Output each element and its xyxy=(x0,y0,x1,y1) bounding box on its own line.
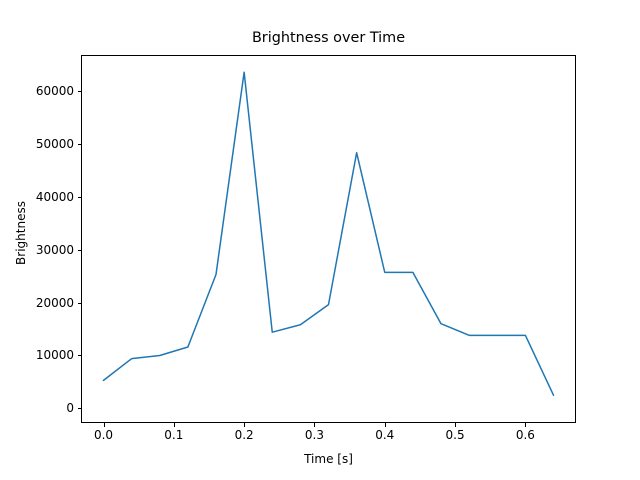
y-tick-mark xyxy=(78,250,82,251)
x-tick-label: 0.1 xyxy=(144,429,204,441)
x-tick-mark xyxy=(385,423,386,427)
x-tick-mark xyxy=(314,423,315,427)
x-tick-label: 0.2 xyxy=(214,429,274,441)
x-tick-label: 0.0 xyxy=(74,429,134,441)
x-axis-label: Time [s] xyxy=(81,452,576,466)
x-tick-mark xyxy=(244,423,245,427)
y-tick-label: 0 xyxy=(0,402,74,414)
y-tick-mark xyxy=(78,303,82,304)
x-tick-mark xyxy=(174,423,175,427)
y-tick-label: 60000 xyxy=(0,85,74,97)
y-tick-mark xyxy=(78,144,82,145)
y-tick-mark xyxy=(78,355,82,356)
x-tick-mark xyxy=(104,423,105,427)
x-tick-mark xyxy=(455,423,456,427)
y-tick-mark xyxy=(78,91,82,92)
x-tick-label: 0.4 xyxy=(355,429,415,441)
chart-title: Brightness over Time xyxy=(81,30,576,46)
x-tick-label: 0.5 xyxy=(425,429,485,441)
x-tick-label: 0.3 xyxy=(284,429,344,441)
y-tick-mark xyxy=(78,408,82,409)
x-tick-label: 0.6 xyxy=(495,429,555,441)
y-tick-label: 20000 xyxy=(0,297,74,309)
y-tick-label: 30000 xyxy=(0,244,74,256)
y-tick-label: 10000 xyxy=(0,349,74,361)
y-tick-label: 40000 xyxy=(0,191,74,203)
plot-area xyxy=(81,55,576,423)
x-tick-mark xyxy=(525,423,526,427)
matplotlib-figure: Brightness over Time Brightness Time [s]… xyxy=(0,0,640,480)
y-tick-label: 50000 xyxy=(0,138,74,150)
y-tick-mark xyxy=(78,197,82,198)
